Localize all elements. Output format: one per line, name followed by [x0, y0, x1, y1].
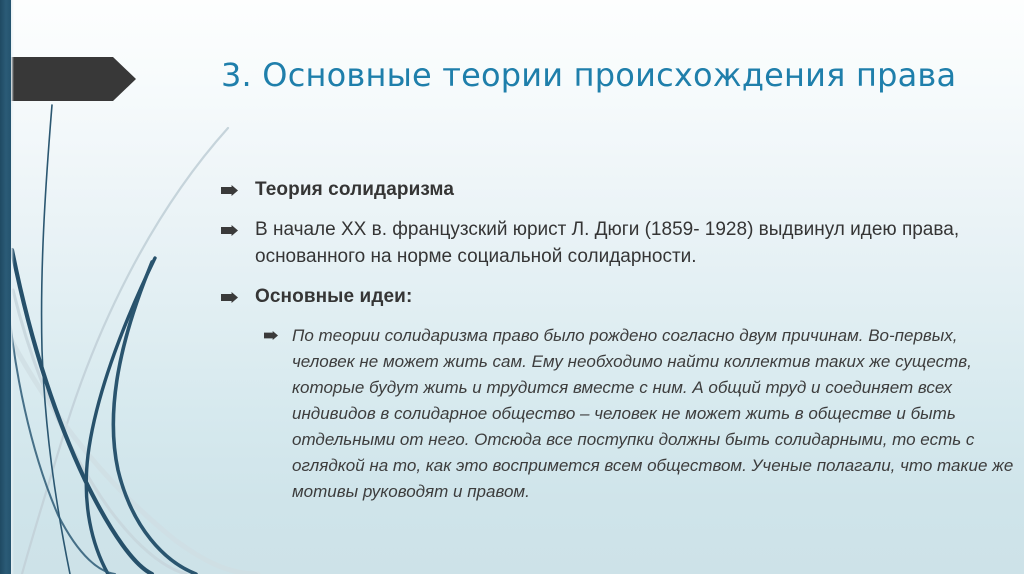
sub-list-item-label: По теории солидаризма право было рождено…: [292, 323, 1021, 505]
pennant-bullet-icon: [221, 292, 238, 303]
list-item-label: Основные идеи:: [255, 283, 1021, 310]
list-item: В начале XX в. французский юрист Л. Дюги…: [221, 216, 1021, 270]
page-title: 3. Основные теории происхождения права: [221, 55, 981, 95]
pennant-bullet-icon: [264, 331, 278, 340]
slide-canvas: 3. Основные теории происхождения права Т…: [0, 0, 1024, 574]
left-accent-bar-highlight: [11, 0, 14, 574]
arrow-banner-shape: [0, 57, 136, 101]
bullet-list: Теория солидаризма В начале XX в. францу…: [221, 176, 1021, 505]
list-item: Теория солидаризма: [221, 176, 1021, 203]
list-item-label: Теория солидаризма: [255, 176, 1021, 203]
slide-content: 3. Основные теории происхождения права Т…: [0, 0, 1024, 574]
pennant-bullet-icon: [221, 225, 238, 236]
left-accent-bar: [0, 0, 11, 574]
list-item-label: В начале XX в. французский юрист Л. Дюги…: [255, 216, 1021, 270]
sub-list-item: По теории солидаризма право было рождено…: [264, 323, 1021, 505]
list-item: Основные идеи:: [221, 283, 1021, 310]
pennant-bullet-icon: [221, 185, 238, 196]
